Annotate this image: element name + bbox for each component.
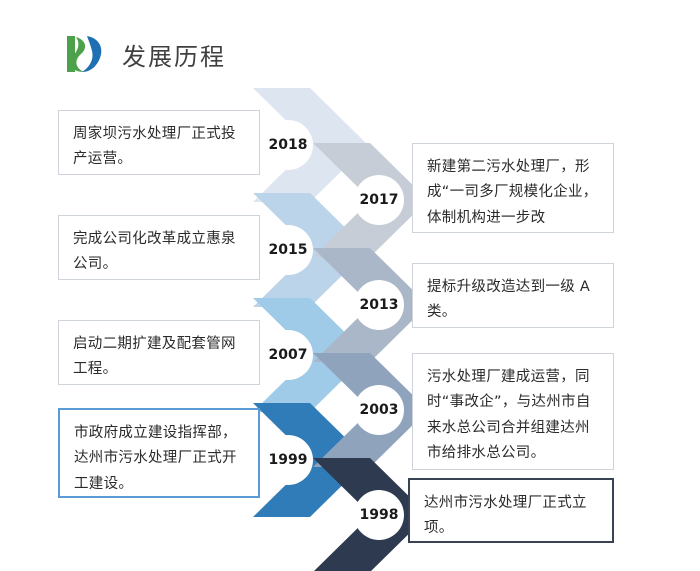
- year-bubble-2017[interactable]: 2017: [354, 175, 404, 225]
- milestone-box-2017: 新建第二污水处理厂，形成“一司多厂规模化企业，体制机构进一步改: [412, 143, 614, 233]
- year-bubble-1998[interactable]: 1998: [354, 490, 404, 540]
- milestone-box-2007: 启动二期扩建及配套管网工程。: [58, 320, 260, 385]
- milestone-box-1998: 达州市污水处理厂正式立项。: [408, 478, 614, 543]
- year-bubble-2013[interactable]: 2013: [354, 280, 404, 330]
- milestone-box-2003: 污水处理厂建成运营，同时“事改企”，与达州市自来水总公司合并组建达州市给排水总公…: [412, 353, 614, 470]
- year-bubble-1999[interactable]: 1999: [263, 435, 313, 485]
- year-bubble-2018[interactable]: 2018: [263, 120, 313, 170]
- year-bubble-2015[interactable]: 2015: [263, 225, 313, 275]
- milestone-box-2013: 提标升级改造达到一级 A 类。: [412, 263, 614, 328]
- milestone-box-1999: 市政府成立建设指挥部，达州市污水处理厂正式开工建设。: [58, 408, 260, 498]
- year-bubble-2003[interactable]: 2003: [354, 385, 404, 435]
- milestone-box-2018: 周家坝污水处理厂正式投产运营。: [58, 110, 260, 175]
- milestone-box-2015: 完成公司化改革成立惠泉公司。: [58, 215, 260, 280]
- year-bubble-2007[interactable]: 2007: [263, 330, 313, 380]
